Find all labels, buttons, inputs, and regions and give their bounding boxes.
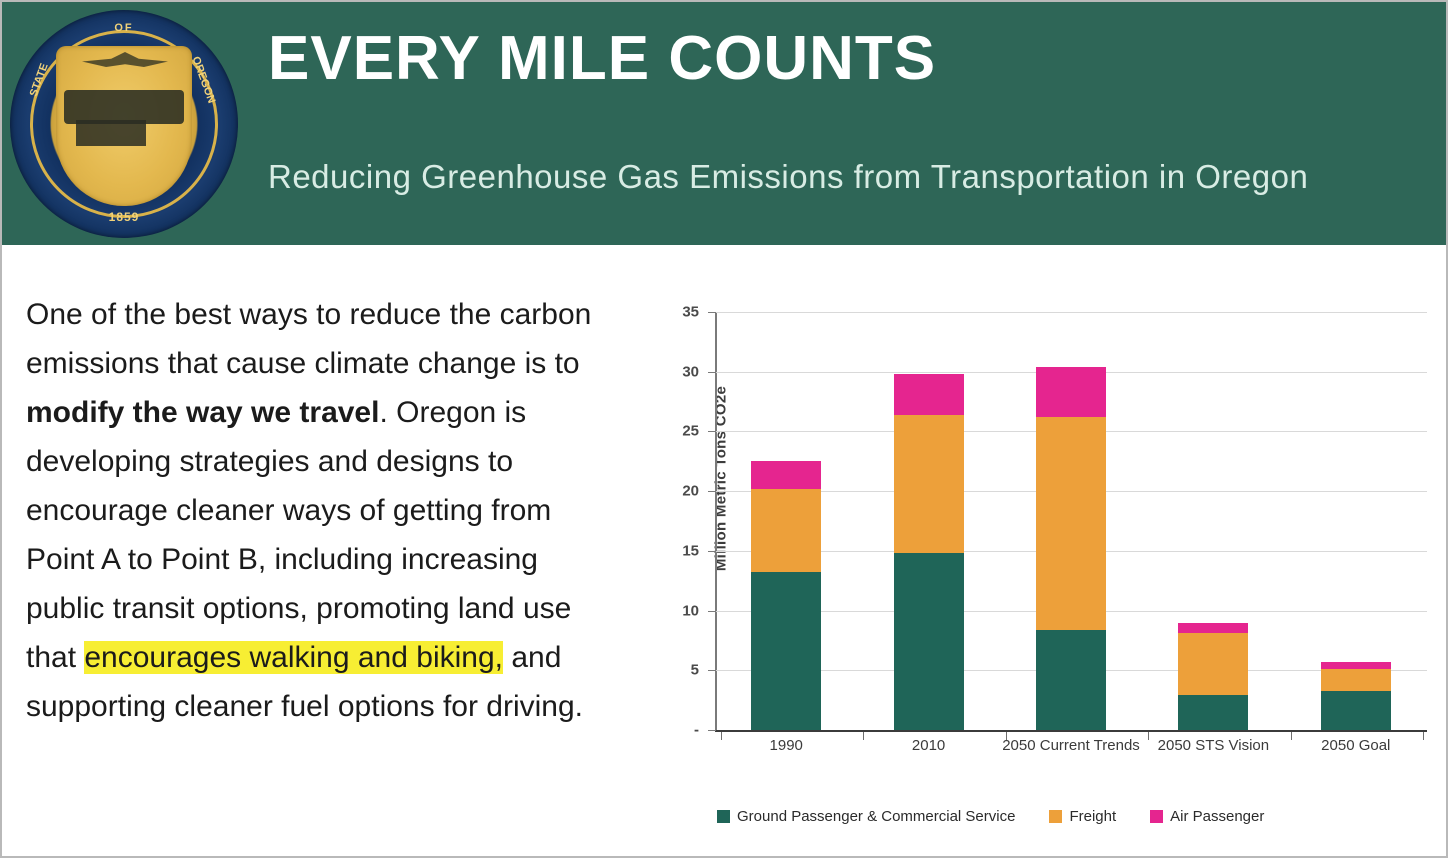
- seal-shield: [56, 46, 192, 206]
- y-tick-label: 25: [653, 423, 699, 440]
- legend-label: Air Passenger: [1170, 808, 1264, 825]
- poster-page: OF STATE OREGON 1859 EVERY MILE COUNTS R…: [0, 0, 1448, 858]
- y-tick-mark: [708, 611, 716, 612]
- legend-label: Freight: [1069, 808, 1116, 825]
- x-axis-line: [715, 730, 1427, 732]
- y-tick-mark: [708, 491, 716, 492]
- bar-segment: [894, 553, 964, 730]
- x-axis-label: 2050 Goal: [1281, 736, 1431, 756]
- x-axis-label: 1990: [711, 736, 861, 756]
- bar-2010[interactable]: [894, 374, 964, 730]
- gridline: [715, 312, 1427, 313]
- y-tick-mark: [708, 551, 716, 552]
- seal-ship-band: [76, 120, 146, 146]
- bar-2050-sts-vision[interactable]: [1178, 623, 1248, 730]
- x-axis-labels: 199020102050 Current Trends2050 STS Visi…: [715, 736, 1427, 792]
- y-tick-label: 30: [653, 363, 699, 380]
- chart-legend: Ground Passenger & Commercial ServiceFre…: [717, 808, 1417, 825]
- highlighted-phrase: encourages walking and biking,: [84, 641, 503, 674]
- y-tick-label: 15: [653, 542, 699, 559]
- y-tick-label: -: [653, 722, 699, 739]
- bar-segment: [1178, 623, 1248, 634]
- chart-plot-area: -5101520253035: [715, 312, 1427, 732]
- bar-segment: [894, 415, 964, 554]
- intro-paragraph: One of the best ways to reduce the carbo…: [26, 290, 616, 731]
- y-tick-label: 5: [653, 662, 699, 679]
- seal-eagle-icon: [82, 52, 168, 86]
- bar-segment: [1036, 417, 1106, 630]
- x-axis-label: 2050 Current Trends: [996, 736, 1146, 756]
- bar-segment: [751, 489, 821, 573]
- seal-of-text: OF: [10, 22, 238, 34]
- legend-item[interactable]: Freight: [1049, 808, 1116, 825]
- legend-swatch: [717, 810, 730, 823]
- oregon-state-seal-icon: OF STATE OREGON 1859: [10, 10, 238, 238]
- bar-segment: [1321, 691, 1391, 730]
- emissions-stacked-bar-chart: Million Metric Tons CO2e -5101520253035 …: [627, 290, 1442, 852]
- bar-segment: [1178, 633, 1248, 695]
- seal-mountain-band: [64, 90, 184, 124]
- bar-segment: [751, 461, 821, 488]
- y-tick-mark: [708, 670, 716, 671]
- y-tick-mark: [708, 730, 716, 731]
- legend-swatch: [1150, 810, 1163, 823]
- bar-segment: [1321, 662, 1391, 669]
- header-banner: OF STATE OREGON 1859 EVERY MILE COUNTS R…: [2, 2, 1446, 245]
- bar-1990[interactable]: [751, 461, 821, 730]
- legend-swatch: [1049, 810, 1062, 823]
- bar-segment: [1321, 669, 1391, 690]
- y-tick-label: 10: [653, 602, 699, 619]
- legend-item[interactable]: Ground Passenger & Commercial Service: [717, 808, 1015, 825]
- x-axis-label: 2010: [854, 736, 1004, 756]
- bar-segment: [1036, 367, 1106, 417]
- x-axis-label: 2050 STS Vision: [1138, 736, 1288, 756]
- page-title: EVERY MILE COUNTS: [268, 28, 936, 90]
- paragraph-bold-phrase: modify the way we travel: [26, 396, 379, 429]
- y-tick-label: 20: [653, 483, 699, 500]
- y-tick-mark: [708, 312, 716, 313]
- bar-segment: [1178, 695, 1248, 730]
- legend-item[interactable]: Air Passenger: [1150, 808, 1264, 825]
- bar-segment: [751, 572, 821, 730]
- seal-year-text: 1859: [10, 210, 238, 224]
- bar-2050-current-trends[interactable]: [1036, 367, 1106, 730]
- bar-segment: [894, 374, 964, 415]
- bar-2050-goal[interactable]: [1321, 662, 1391, 730]
- legend-label: Ground Passenger & Commercial Service: [737, 808, 1015, 825]
- y-axis-line: [715, 312, 717, 732]
- paragraph-part-1: One of the best ways to reduce the carbo…: [26, 298, 591, 380]
- paragraph-part-2: . Oregon is developing strategies and de…: [26, 396, 571, 674]
- page-subtitle: Reducing Greenhouse Gas Emissions from T…: [268, 160, 1308, 193]
- y-tick-label: 35: [653, 304, 699, 321]
- bar-segment: [1036, 630, 1106, 730]
- y-tick-mark: [708, 372, 716, 373]
- y-tick-mark: [708, 431, 716, 432]
